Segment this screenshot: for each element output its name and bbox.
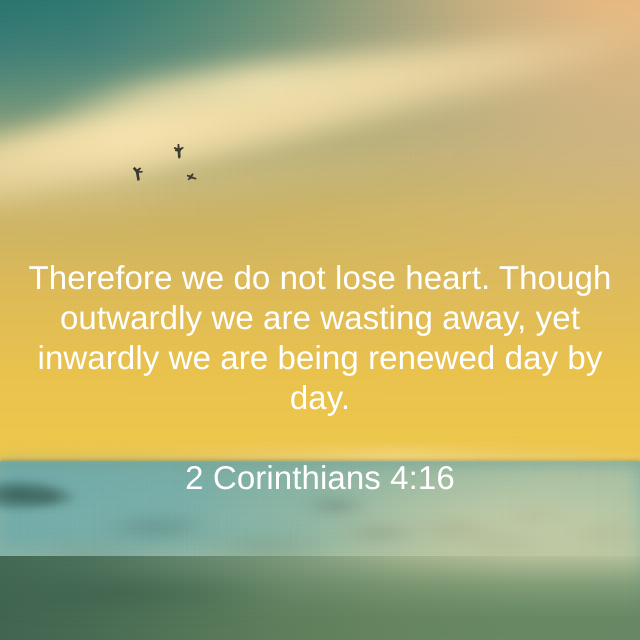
bird-icon: [187, 173, 197, 180]
bird-icon: [174, 144, 184, 159]
verse-overlay: Therefore we do not lose heart. Though o…: [0, 218, 640, 538]
bird-icon: [133, 167, 143, 181]
verse-reference: 2 Corinthians 4:16: [0, 458, 640, 498]
verse-text: Therefore we do not lose heart. Though o…: [0, 258, 640, 418]
verse-image-canvas: Therefore we do not lose heart. Though o…: [0, 0, 640, 640]
